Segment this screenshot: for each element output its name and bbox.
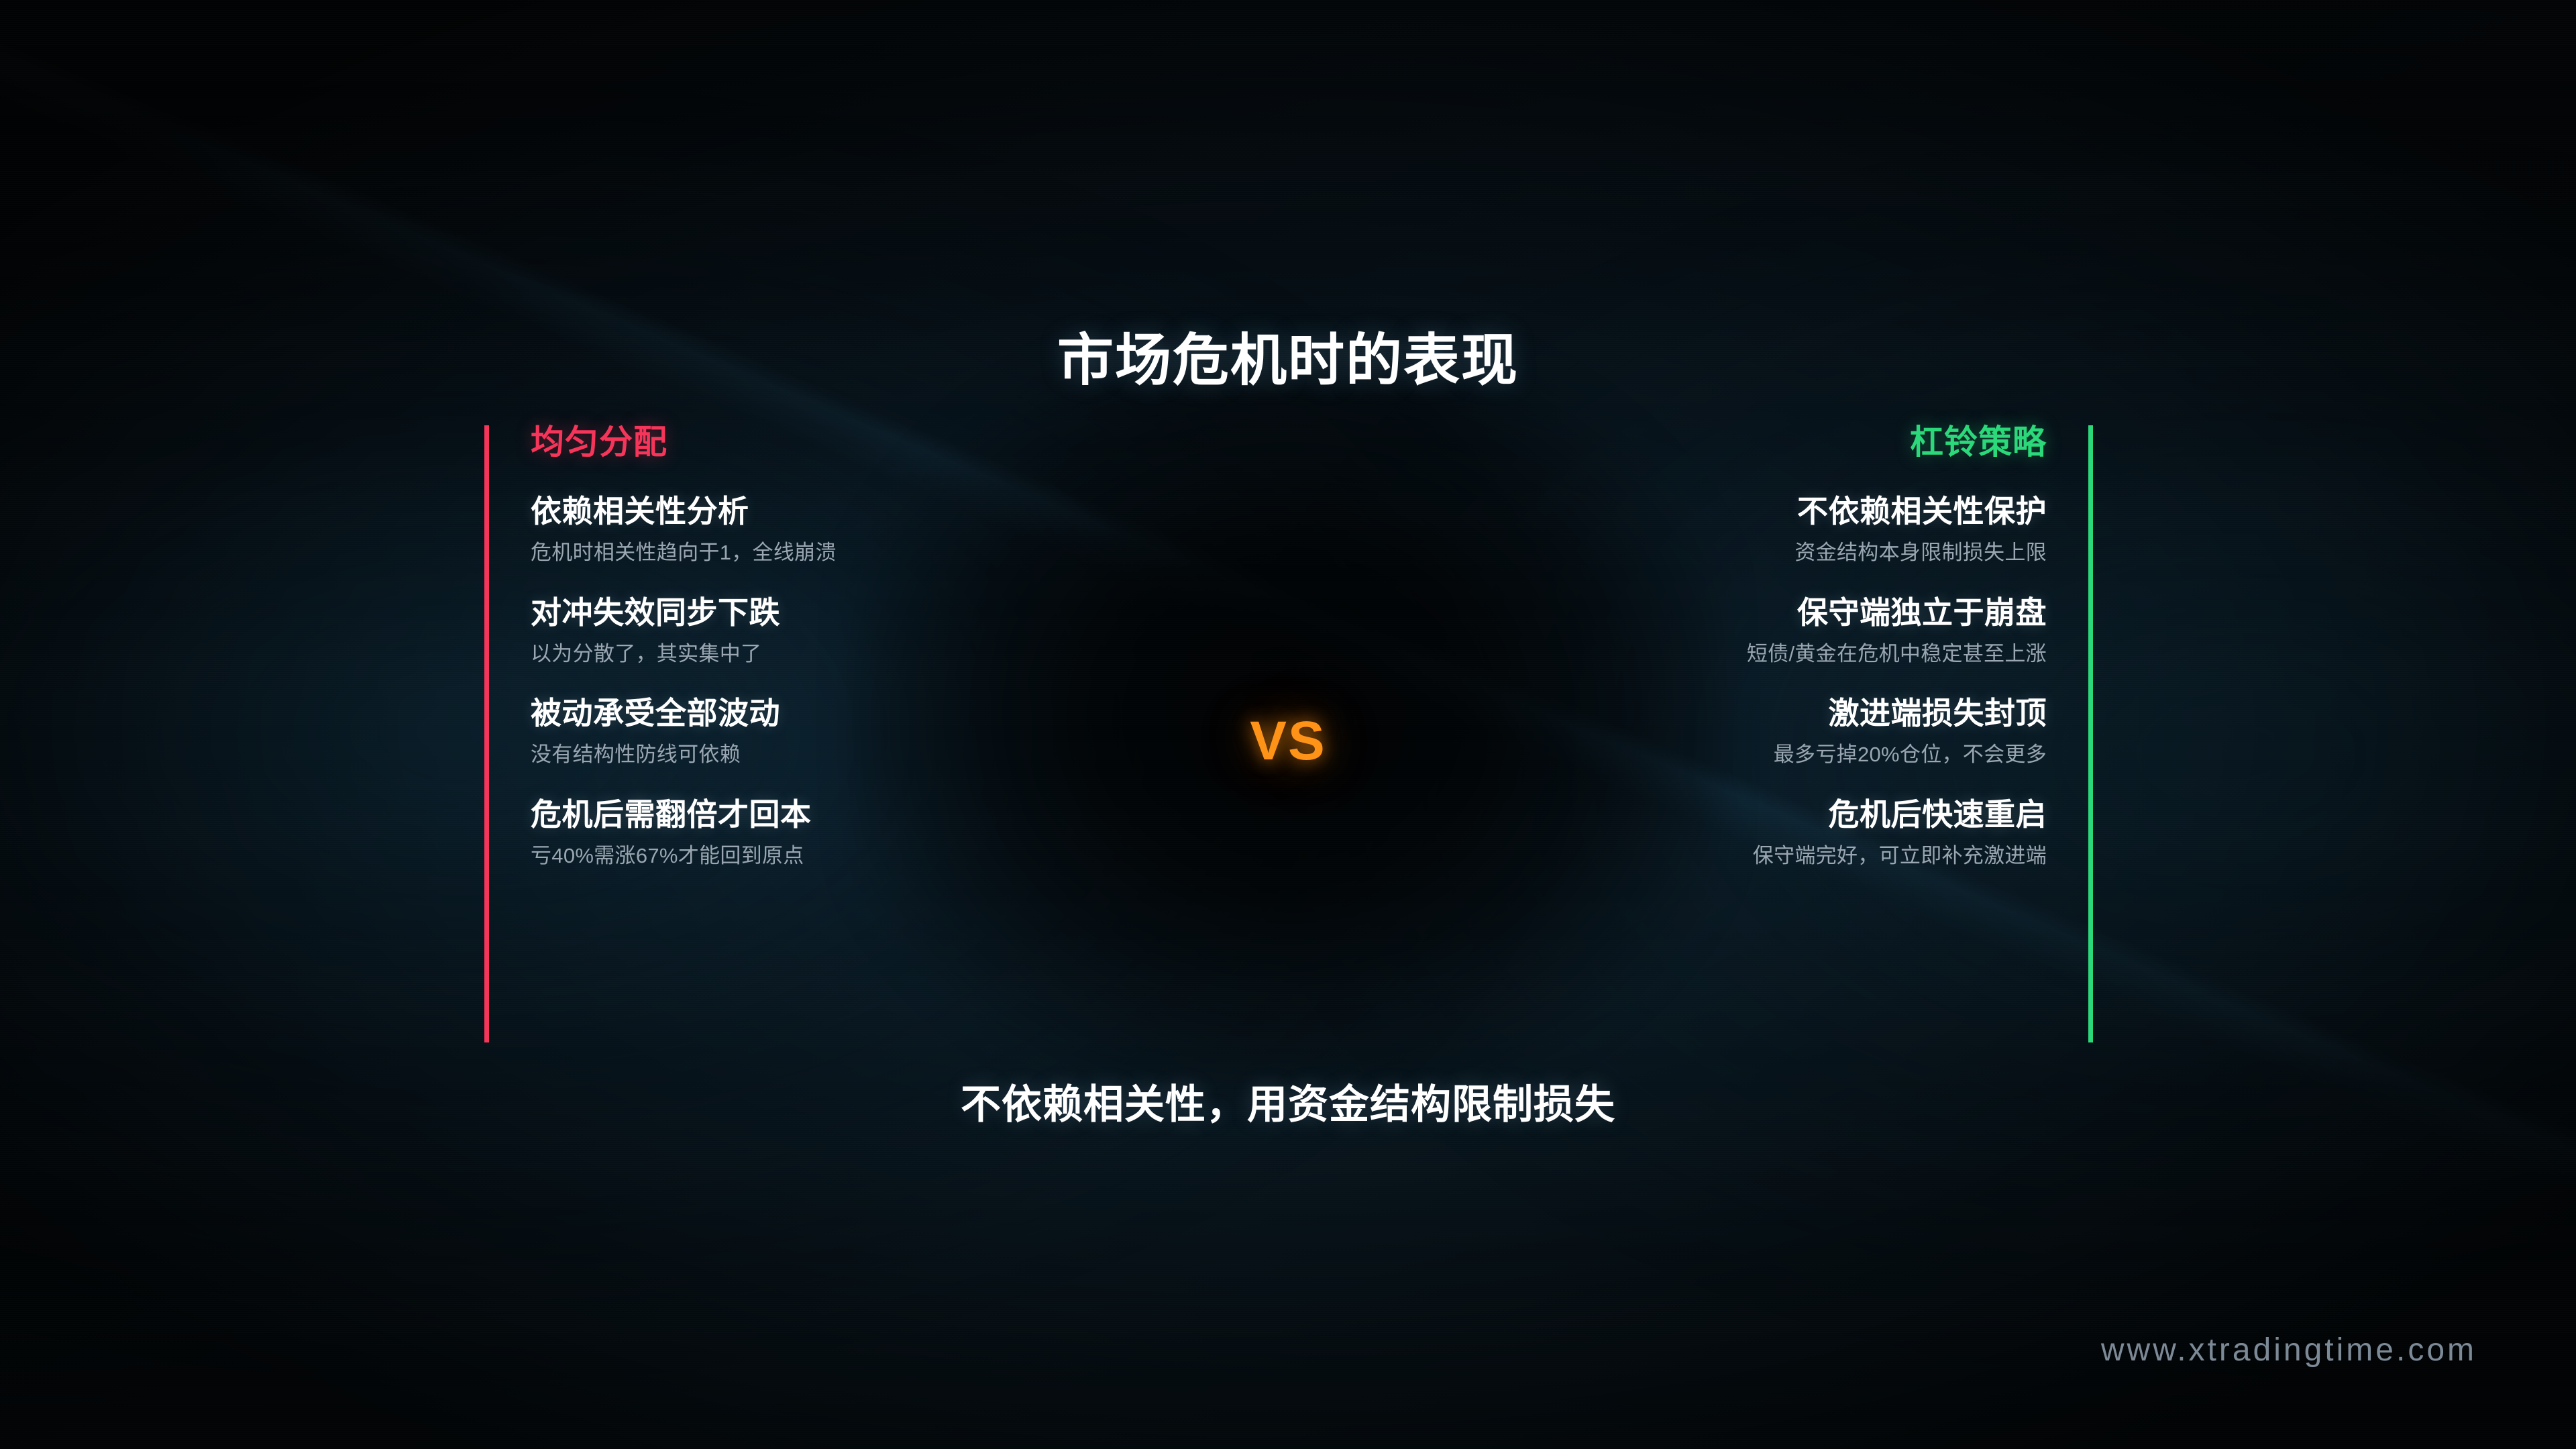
item-subtitle: 短债/黄金在危机中稳定甚至上涨 [1261, 641, 2047, 666]
item-title: 激进端损失封顶 [1261, 696, 2047, 731]
comparison-slide: 市场危机时的表现 均匀分配 依赖相关性分析 危机时相关性趋向于1，全线崩溃 对冲… [0, 0, 2576, 1449]
vs-badge: VS [1250, 710, 1326, 773]
item-subtitle: 亏40%需涨67%才能回到原点 [531, 843, 1316, 868]
item-title: 不依赖相关性保护 [1261, 494, 2047, 529]
item-subtitle: 保守端完好，可立即补充激进端 [1261, 843, 2047, 868]
site-watermark: www.xtradingtime.com [2101, 1332, 2477, 1368]
list-item: 保守端独立于崩盘 短债/黄金在危机中稳定甚至上涨 [1261, 595, 2047, 667]
list-item: 对冲失效同步下跌 以为分散了，其实集中了 [531, 595, 1316, 667]
item-title: 对冲失效同步下跌 [531, 595, 1316, 631]
left-comparison-column: 均匀分配 依赖相关性分析 危机时相关性趋向于1，全线崩溃 对冲失效同步下跌 以为… [484, 425, 1316, 1042]
item-title: 被动承受全部波动 [531, 696, 1316, 731]
list-item: 危机后快速重启 保守端完好，可立即补充激进端 [1261, 797, 2047, 869]
item-subtitle: 资金结构本身限制损失上限 [1261, 540, 2047, 565]
right-column-header: 杠铃策略 [1261, 425, 2047, 459]
list-item: 被动承受全部波动 没有结构性防线可依赖 [531, 696, 1316, 767]
list-item: 不依赖相关性保护 资金结构本身限制损失上限 [1261, 494, 2047, 566]
item-subtitle: 以为分散了，其实集中了 [531, 641, 1316, 666]
page-title: 市场危机时的表现 [0, 315, 2576, 396]
item-subtitle: 没有结构性防线可依赖 [531, 742, 1316, 767]
slide-content: 市场危机时的表现 均匀分配 依赖相关性分析 危机时相关性趋向于1，全线崩溃 对冲… [0, 0, 2576, 1449]
right-comparison-column: 杠铃策略 不依赖相关性保护 资金结构本身限制损失上限 保守端独立于崩盘 短债/黄… [1261, 425, 2093, 1042]
left-column-header: 均匀分配 [531, 425, 1316, 459]
item-title: 危机后需翻倍才回本 [531, 797, 1316, 833]
list-item: 危机后需翻倍才回本 亏40%需涨67%才能回到原点 [531, 797, 1316, 869]
item-title: 危机后快速重启 [1261, 797, 2047, 833]
item-subtitle: 最多亏掉20%仓位，不会更多 [1261, 742, 2047, 767]
list-item: 激进端损失封顶 最多亏掉20%仓位，不会更多 [1261, 696, 2047, 767]
item-title: 依赖相关性分析 [531, 494, 1316, 529]
list-item: 依赖相关性分析 危机时相关性趋向于1，全线崩溃 [531, 494, 1316, 566]
item-subtitle: 危机时相关性趋向于1，全线崩溃 [531, 540, 1316, 565]
conclusion-text: 不依赖相关性，用资金结构限制损失 [0, 1072, 2576, 1130]
item-title: 保守端独立于崩盘 [1261, 595, 2047, 631]
